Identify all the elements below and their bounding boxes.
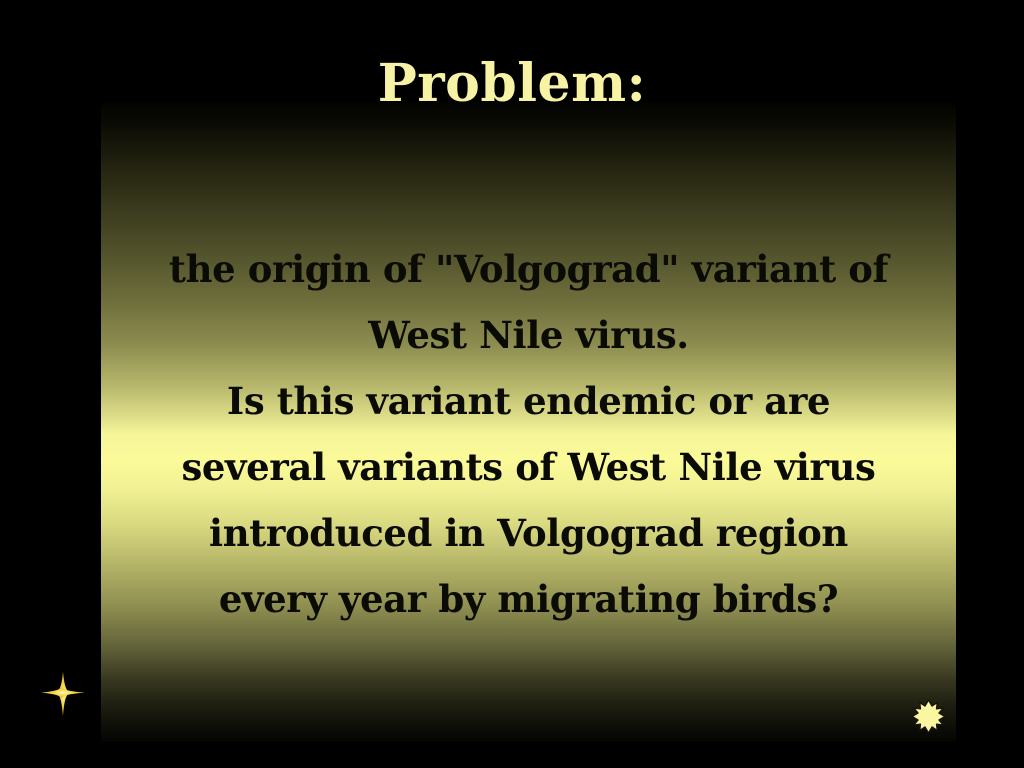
body-line: every year by migrating birds? — [101, 566, 956, 632]
presentation-slide: Problem: the origin of "Volgograd" varia… — [0, 0, 1024, 768]
slide-body-text: the origin of "Volgograd" variant of Wes… — [101, 236, 956, 632]
body-line: Is this variant endemic or are — [101, 368, 956, 434]
body-line: West Nile virus. — [101, 302, 956, 368]
starburst-icon — [911, 699, 946, 734]
page-title: Problem: — [0, 55, 1024, 113]
body-line: the origin of "Volgograd" variant of — [101, 236, 956, 302]
four-point-sparkle-icon — [40, 671, 86, 717]
body-line: introduced in Volgograd region — [101, 500, 956, 566]
body-line: several variants of West Nile virus — [101, 434, 956, 500]
